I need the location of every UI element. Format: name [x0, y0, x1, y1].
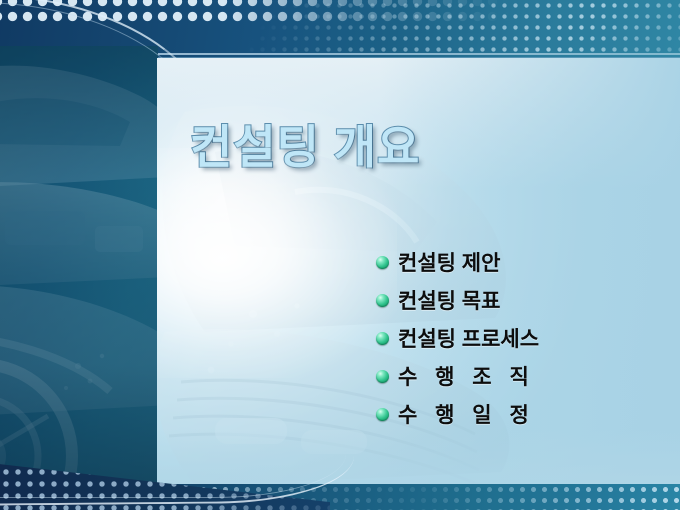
- bullet-dot-icon: [376, 408, 389, 421]
- list-item[interactable]: 수 행 일 정: [376, 395, 666, 433]
- bullet-list: 컨설팅 제안 컨설팅 목표 컨설팅 프로세스 수 행 조 직 수 행 일 정: [376, 243, 666, 433]
- bullet-dot-icon: [376, 256, 389, 269]
- bullet-dot-icon: [376, 370, 389, 383]
- bullet-dot-icon: [376, 332, 389, 345]
- presentation-slide: 컨설팅 개요 컨설팅 제안 컨설팅 목표 컨설팅 프로세스 수 행 조 직 수 …: [0, 0, 680, 510]
- bullet-dot-icon: [376, 294, 389, 307]
- slide-title: 컨설팅 개요: [190, 123, 420, 171]
- bullet-label: 수 행 일 정: [398, 399, 535, 429]
- bullet-label: 컨설팅 목표: [398, 285, 500, 315]
- list-item[interactable]: 컨설팅 프로세스: [376, 319, 666, 357]
- halftone-dots-small-icon: [180, 0, 680, 56]
- bullet-label: 컨설팅 프로세스: [398, 323, 539, 353]
- list-item[interactable]: 수 행 조 직: [376, 357, 666, 395]
- content-highlight-glow: [157, 148, 397, 378]
- bullet-label: 수 행 조 직: [398, 361, 535, 391]
- list-item[interactable]: 컨설팅 목표: [376, 281, 666, 319]
- bullet-label: 컨설팅 제안: [398, 247, 500, 277]
- list-item[interactable]: 컨설팅 제안: [376, 243, 666, 281]
